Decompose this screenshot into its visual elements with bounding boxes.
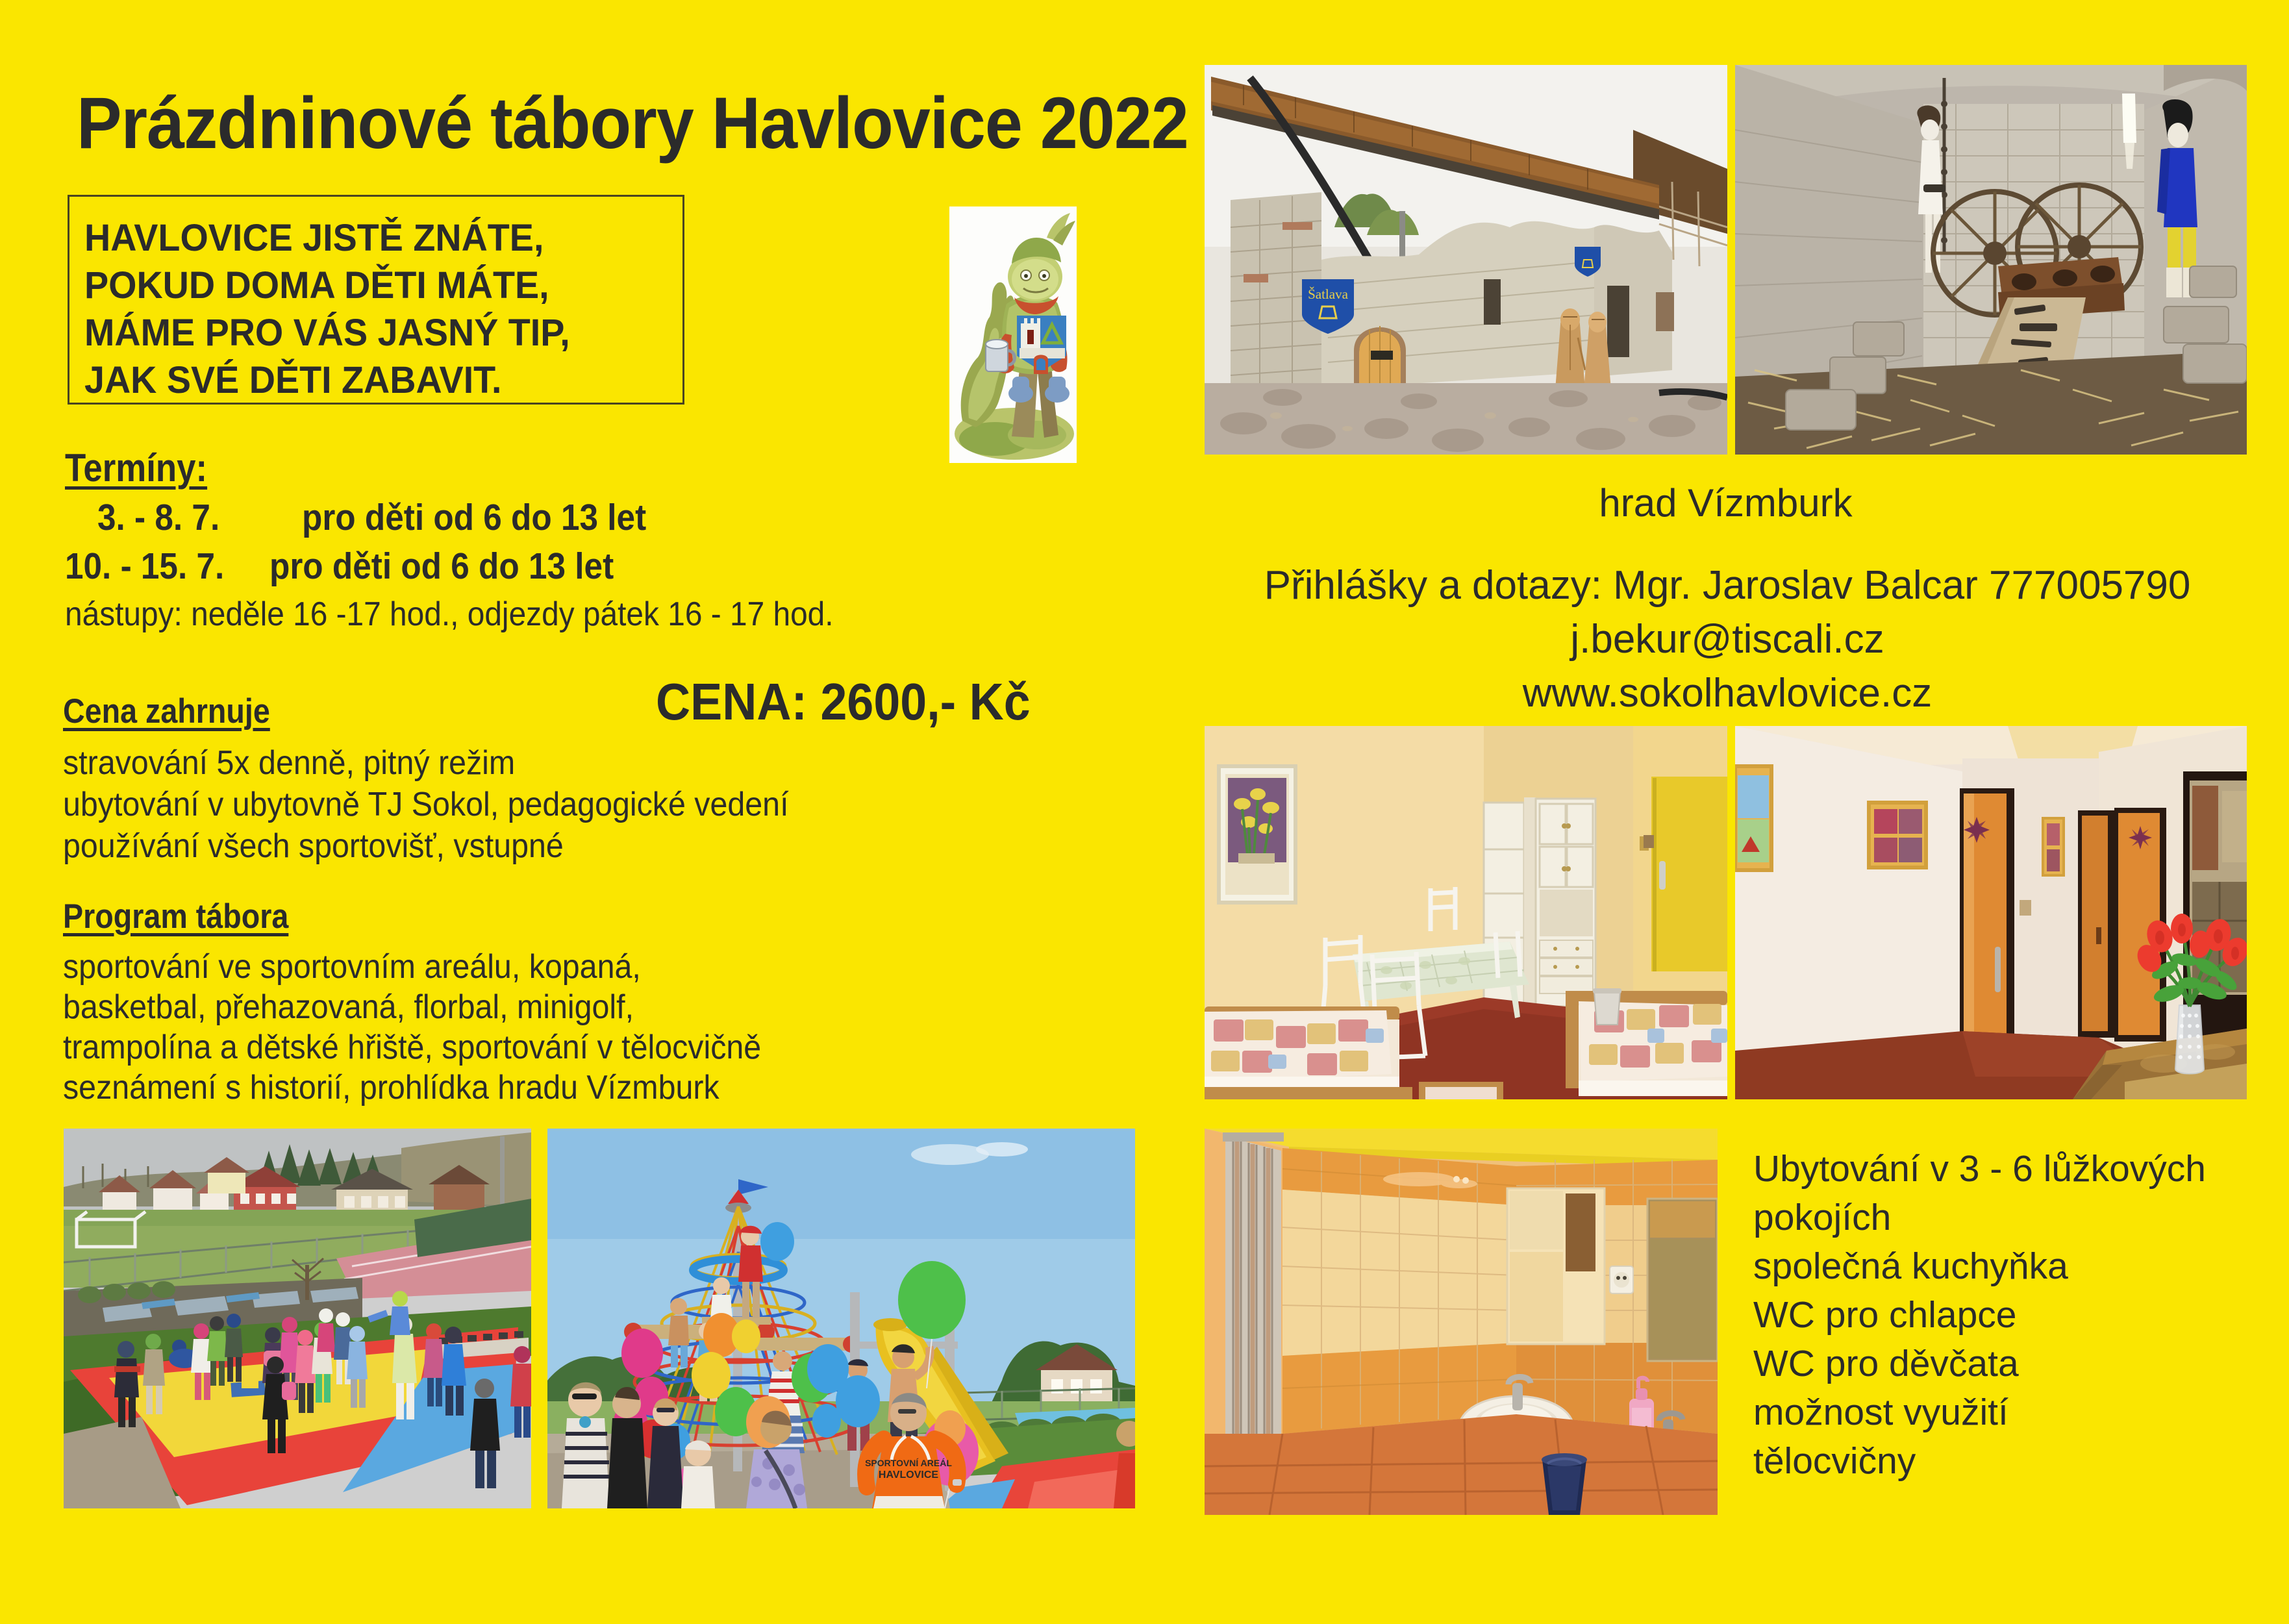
contact-line-person: Přihlášky a dotazy: Mgr. Jaroslav Balcar… (1195, 558, 2260, 612)
page-title: Prázdninové tábory Havlovice 2022 (77, 81, 1188, 165)
photo-corridor (1735, 726, 2247, 1099)
ubytovani-line-3: společná kuchyňka (1753, 1242, 2206, 1291)
terminy-ages-1: pro děti od 6 do 13 let (302, 497, 646, 538)
hrad-caption: hrad Vízmburk (1205, 481, 2247, 525)
ubytovani-line-1: Ubytování v 3 - 6 lůžkových (1753, 1145, 2206, 1193)
program-item-1: sportování ve sportovním areálu, kopaná, (63, 947, 761, 987)
cena-item-3: používání všech sportovišť, vstupné (63, 825, 789, 867)
photo-bathroom (1205, 1129, 1718, 1515)
terminy-heading: Termíny: (65, 445, 207, 490)
rhyme-line-3: MÁME PRO VÁS JASNÝ TIP, (84, 309, 658, 356)
cena-item-1: stravování 5x denně, pitný režim (63, 742, 789, 784)
svg-text:SPORTOVNÍ AREÁL: SPORTOVNÍ AREÁL (865, 1458, 952, 1468)
terminy-dates-1: 3. - 8. 7. (97, 496, 302, 539)
svg-text:HAVLOVICE: HAVLOVICE (879, 1469, 938, 1480)
rhyme-line-4: JAK SVÉ DĚTI ZABAVIT. (84, 356, 658, 404)
ubytovani-line-5: WC pro děvčata (1753, 1340, 2206, 1388)
terminy-ages-2: pro děti od 6 do 13 let (269, 545, 614, 587)
price-label: CENA: 2600,- Kč (656, 672, 1031, 732)
ubytovani-list: Ubytování v 3 - 6 lůžkových pokojích spo… (1753, 1145, 2206, 1486)
terminy-dates-2: 10. - 15. 7. (65, 545, 269, 588)
program-item-4: seznámení s historií, prohlídka hradu Ví… (63, 1068, 761, 1108)
photo-playground: SPORTOVNÍ AREÁL HAVLOVICE (547, 1129, 1135, 1508)
contact-line-website[interactable]: www.sokolhavlovice.cz (1195, 666, 2260, 720)
contact-block: Přihlášky a dotazy: Mgr. Jaroslav Balcar… (1195, 558, 2260, 720)
terminy-note: nástupy: neděle 16 -17 hod., odjezdy pát… (65, 595, 834, 634)
program-item-3: trampolína a dětské hřiště, sportování v… (63, 1027, 761, 1068)
svg-text:Šatlava: Šatlava (1308, 286, 1348, 302)
program-heading: Program tábora (63, 897, 288, 936)
program-item-2: basketbal, přehazovaná, florbal, minigol… (63, 987, 761, 1027)
photo-bedroom (1205, 726, 1727, 1099)
rhyme-line-2: POKUD DOMA DĚTI MÁTE, (84, 262, 658, 309)
terminy-row-2: 10. - 15. 7.pro děti od 6 do 13 let (65, 545, 614, 588)
ubytovani-line-7: tělocvičny (1753, 1437, 2206, 1486)
rhyme-line-1: HAVLOVICE JISTĚ ZNÁTE, (84, 214, 658, 262)
ubytovani-line-4: WC pro chlapce (1753, 1291, 2206, 1340)
program-list: sportování ve sportovním areálu, kopaná,… (63, 947, 761, 1108)
photo-dungeon (1735, 65, 2247, 455)
cena-includes-list: stravování 5x denně, pitný režim ubytová… (63, 742, 789, 867)
photo-castle-exterior: Šatlava (1205, 65, 1727, 455)
poster-canvas: Prázdninové tábory Havlovice 2022 HAVLOV… (0, 0, 2289, 1624)
cena-item-2: ubytování v ubytovně TJ Sokol, pedagogic… (63, 784, 789, 825)
terminy-row-1: 3. - 8. 7.pro děti od 6 do 13 let (97, 496, 646, 539)
forest-sprite-mascot-icon (949, 206, 1077, 463)
ubytovani-line-6: možnost využití (1753, 1388, 2206, 1437)
rhyme-text: HAVLOVICE JISTĚ ZNÁTE, POKUD DOMA DĚTI M… (84, 214, 658, 404)
contact-line-email[interactable]: j.bekur@tiscali.cz (1195, 612, 2260, 666)
ubytovani-line-2: pokojích (1753, 1193, 2206, 1242)
cena-heading: Cena zahrnuje (63, 692, 270, 731)
photo-trampoline (64, 1129, 531, 1508)
